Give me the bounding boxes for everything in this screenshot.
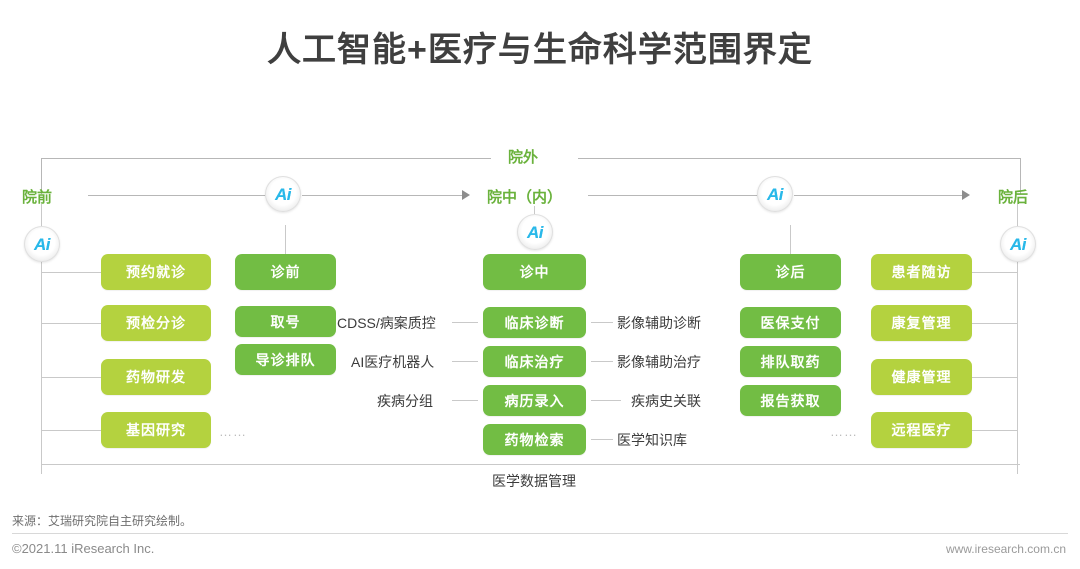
- copyright-text: ©2021.11 iResearch Inc.: [12, 541, 154, 556]
- pill-pre-visit-3[interactable]: 导诊排队: [235, 344, 336, 375]
- outside-bracket-left-arm: [41, 158, 491, 159]
- pill-post-visit-3[interactable]: 排队取药: [740, 346, 841, 377]
- left-note-connector-1: [452, 322, 478, 323]
- left-note-connector-2: [452, 361, 478, 362]
- pill-post-hospital-2[interactable]: 康复管理: [871, 305, 972, 341]
- source-note: 来源：艾瑞研究院自主研究绘制。: [12, 512, 192, 529]
- left-note-connector-3: [452, 400, 478, 401]
- flow-line-ai1-to-in: [302, 195, 462, 196]
- pill-pre-hospital-1[interactable]: 预约就诊: [101, 254, 211, 290]
- bottom-bracket-line: [41, 464, 1020, 465]
- ai-badge-pre-hospital: Ai: [24, 226, 60, 262]
- pill-pre-hospital-2[interactable]: 预检分诊: [101, 305, 211, 341]
- stage-label-outside: 院外: [508, 146, 538, 167]
- flow-line-ai2-to-post: [794, 195, 962, 196]
- left-note-1: CDSS/病案质控: [337, 313, 436, 333]
- pill-pre-hospital-3[interactable]: 药物研发: [101, 359, 211, 395]
- stage-label-in: 院中（内）: [487, 186, 562, 207]
- pill-during-visit-3[interactable]: 临床治疗: [483, 346, 586, 377]
- pill-post-hospital-1[interactable]: 患者随访: [871, 254, 972, 290]
- ai-badge-label: Ai: [34, 236, 50, 253]
- pill-during-visit-1[interactable]: 诊中: [483, 254, 586, 290]
- ai-badge-pre: Ai: [265, 176, 301, 212]
- ai-badge-label: Ai: [527, 224, 543, 241]
- flow-line-pre-to-ai1: [88, 195, 268, 196]
- pill-pre-visit-1[interactable]: 诊前: [235, 254, 336, 290]
- stem-post-to-badge: [1017, 204, 1018, 228]
- pill-during-visit-4[interactable]: 病历录入: [483, 385, 586, 416]
- outside-bracket-right-arm: [578, 158, 1021, 159]
- left-bracket-spine: [41, 262, 42, 474]
- ai-badge-label: Ai: [767, 186, 783, 203]
- ellipsis-post-visit: ……: [830, 424, 858, 439]
- stage-label-pre: 院前: [22, 186, 52, 207]
- pill-post-visit-2[interactable]: 医保支付: [740, 307, 841, 338]
- ai-badge-post: Ai: [757, 176, 793, 212]
- left-note-3: 疾病分组: [377, 391, 433, 411]
- ai-badge-in-hospital: Ai: [517, 214, 553, 250]
- stem-pre-visit-column: [285, 225, 286, 254]
- pill-pre-hospital-4[interactable]: 基因研究: [101, 412, 211, 448]
- pill-post-visit-4[interactable]: 报告获取: [740, 385, 841, 416]
- right-note-connector-3: [591, 400, 621, 401]
- bottom-note-label: 医学数据管理: [444, 471, 624, 491]
- pill-post-hospital-3[interactable]: 健康管理: [871, 359, 972, 395]
- left-note-2: AI医疗机器人: [351, 352, 434, 372]
- right-note-3: 疾病史关联: [631, 391, 701, 411]
- flow-line-in-to-ai2: [588, 195, 758, 196]
- right-note-2: 影像辅助治疗: [617, 352, 701, 372]
- stage-label-post: 院后: [998, 186, 1028, 207]
- website-url: www.iresearch.com.cn: [946, 542, 1066, 556]
- right-note-connector-4: [591, 439, 613, 440]
- ai-badge-label: Ai: [1010, 236, 1026, 253]
- ellipsis-pre-hospital: ……: [219, 424, 247, 439]
- pill-during-visit-2[interactable]: 临床诊断: [483, 307, 586, 338]
- ai-badge-label: Ai: [275, 186, 291, 203]
- left-branch-4: [41, 430, 101, 431]
- stem-post-visit-column: [790, 225, 791, 254]
- right-note-1: 影像辅助诊断: [617, 313, 701, 333]
- flow-arrow-into-in-hospital: [462, 190, 470, 200]
- flow-arrow-into-post-hospital: [962, 190, 970, 200]
- footer-divider: [12, 533, 1068, 534]
- right-note-connector-1: [591, 322, 613, 323]
- pill-post-visit-1[interactable]: 诊后: [740, 254, 841, 290]
- right-note-4: 医学知识库: [617, 430, 687, 450]
- left-branch-2: [41, 323, 101, 324]
- stem-pre-to-badge: [41, 204, 42, 228]
- pill-during-visit-5[interactable]: 药物检索: [483, 424, 586, 455]
- right-note-connector-2: [591, 361, 613, 362]
- ai-badge-post-hospital: Ai: [1000, 226, 1036, 262]
- left-branch-1: [41, 272, 101, 273]
- right-bracket-spine: [1017, 262, 1018, 474]
- pill-pre-visit-2[interactable]: 取号: [235, 306, 336, 337]
- infographic-canvas: 人工智能+医疗与生命科学范围界定 院外 院前 Ai 院中（内） Ai 院后 Ai…: [0, 0, 1080, 569]
- pill-post-hospital-4[interactable]: 远程医疗: [871, 412, 972, 448]
- left-branch-3: [41, 377, 101, 378]
- page-title: 人工智能+医疗与生命科学范围界定: [0, 22, 1080, 71]
